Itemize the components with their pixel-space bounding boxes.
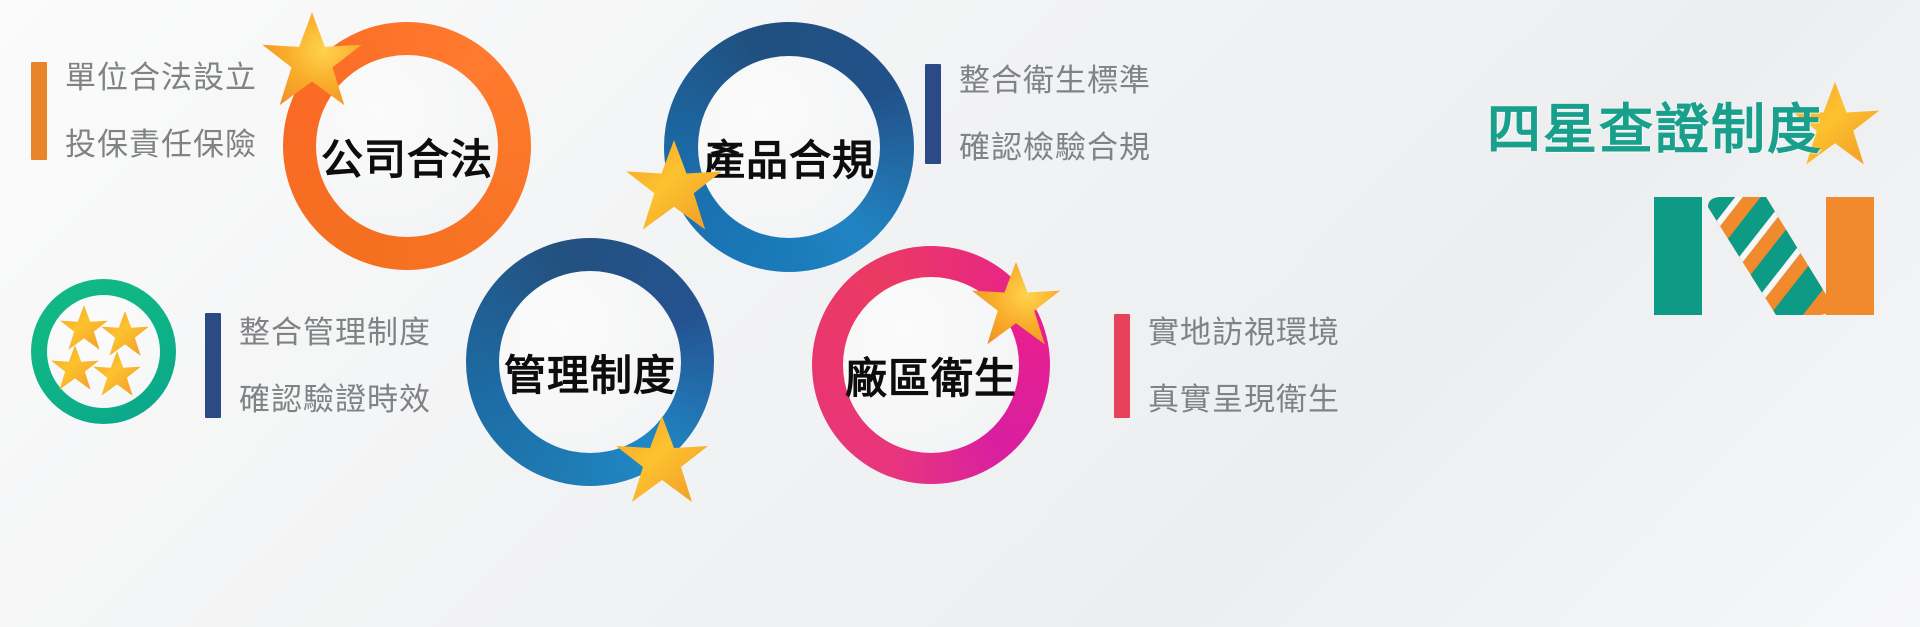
nsi-monogram-logo (1654, 197, 1874, 315)
bullet-hygiene-1: 實地訪視環境 (1148, 317, 1340, 348)
ring-company-label: 公司合法 (283, 126, 531, 187)
accent-bar-management (205, 313, 221, 418)
bullet-lines-product: 整合衛生標準 確認檢驗合規 (959, 65, 1151, 163)
bullet-company-1: 單位合法設立 (65, 62, 257, 93)
gold-star-icon-product (622, 136, 726, 240)
four-stars-icon-group (47, 295, 160, 408)
page-title: 四星查證制度 (1487, 103, 1823, 157)
accent-bar-company (31, 62, 47, 160)
bullet-lines-management: 整合管理制度 確認驗證時效 (239, 317, 431, 415)
infographic-canvas: 單位合法設立 投保責任保險 公司合法 產品合規 整合衛生標準 確認檢驗合規 四星… (0, 0, 1920, 627)
ring-hygiene-label: 廠區衛生 (812, 345, 1050, 406)
bullet-group-company: 單位合法設立 投保責任保險 (31, 62, 257, 160)
bullet-group-hygiene: 實地訪視環境 真實呈現衛生 (1114, 314, 1340, 418)
bullet-hygiene-2: 真實呈現衛生 (1148, 384, 1340, 415)
bullet-lines-hygiene: 實地訪視環境 真實呈現衛生 (1148, 317, 1340, 415)
brand-title-block: 四星查證制度 (1487, 103, 1823, 157)
accent-bar-hygiene (1114, 314, 1130, 418)
bullet-product-2: 確認檢驗合規 (959, 132, 1151, 163)
bullet-management-1: 整合管理制度 (239, 317, 431, 348)
four-stars-badge (31, 279, 176, 424)
gold-star-icon-company (258, 8, 366, 116)
gold-star-icon-hygiene (968, 258, 1064, 354)
accent-bar-product (925, 64, 941, 164)
bullet-lines-company: 單位合法設立 投保責任保險 (65, 62, 257, 160)
bullet-group-management: 整合管理制度 確認驗證時效 (205, 313, 431, 418)
gold-star-icon-management (612, 412, 712, 512)
bullet-company-2: 投保責任保險 (65, 129, 257, 160)
bullet-management-2: 確認驗證時效 (239, 384, 431, 415)
bullet-product-1: 整合衛生標準 (959, 65, 1151, 96)
bullet-group-product: 整合衛生標準 確認檢驗合規 (925, 64, 1151, 164)
ring-management-label: 管理制度 (466, 342, 714, 403)
